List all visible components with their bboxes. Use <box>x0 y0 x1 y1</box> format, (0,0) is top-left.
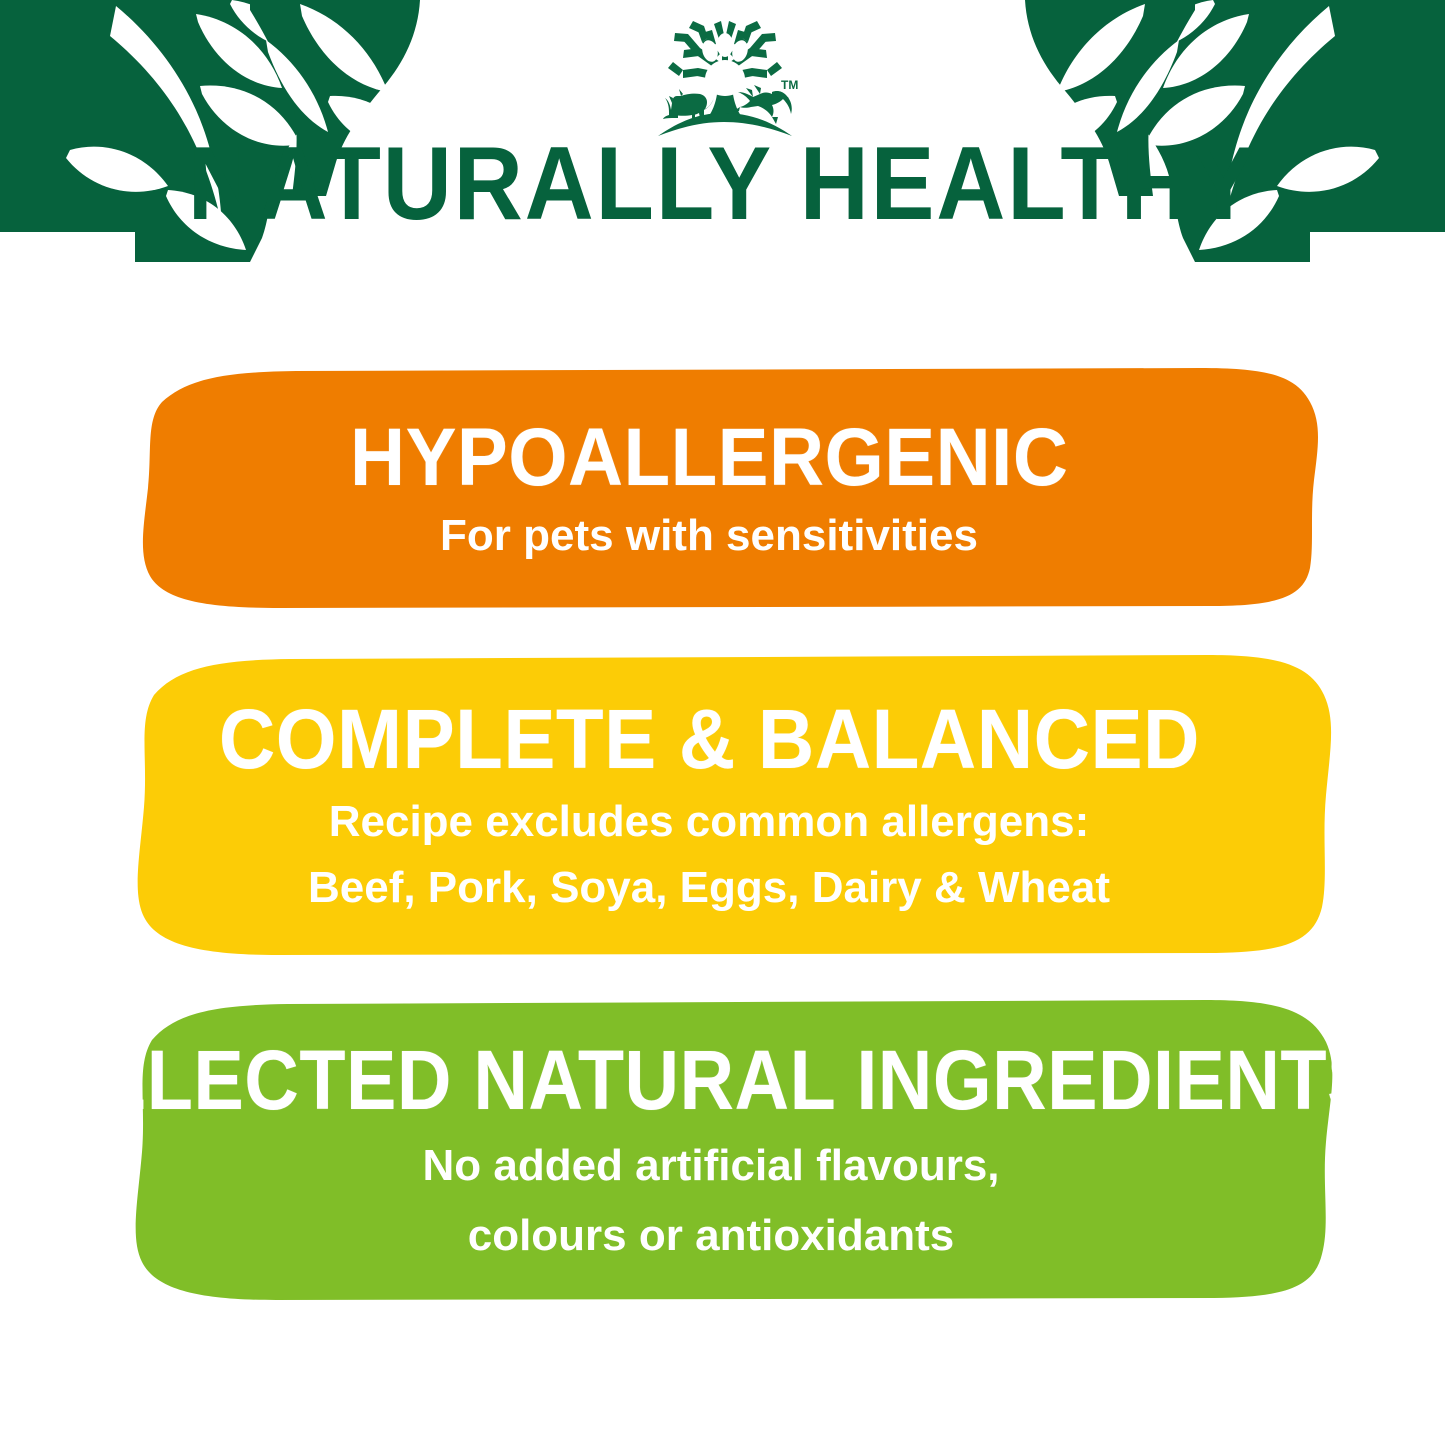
banner-subtitle-line: Beef, Pork, Soya, Eggs, Dairy & Wheat <box>308 861 1110 915</box>
banner-title: SELECTED NATURAL INGREDIENTS <box>45 1036 1378 1124</box>
banner-title: HYPOALLERGENIC <box>350 415 1068 501</box>
product-feature-panel: TM NATURALLY HEALTHY HYPOALLERGENIC For … <box>0 0 1445 1445</box>
banner-text-group: HYPOALLERGENIC For pets with sensitiviti… <box>84 368 1334 608</box>
banner-subtitle-line: Recipe excludes common allergens: <box>329 795 1090 849</box>
feature-banner-complete-balanced: COMPLETE & BALANCED Recipe excludes comm… <box>100 655 1362 955</box>
feature-banner-hypoallergenic: HYPOALLERGENIC For pets with sensitiviti… <box>100 368 1350 608</box>
banner-subtitle-line: For pets with sensitivities <box>440 511 978 561</box>
banner-subtitle-line: No added artificial flavours, <box>422 1138 999 1194</box>
tree-paw-logo-icon: TM <box>648 18 800 140</box>
trademark-symbol: TM <box>781 78 798 92</box>
feature-banner-selected-natural-ingredients: SELECTED NATURAL INGREDIENTS No added ar… <box>100 1000 1362 1300</box>
page-title: NATURALLY HEALTHY <box>58 132 1387 236</box>
banner-text-group: SELECTED NATURAL INGREDIENTS No added ar… <box>80 1000 1342 1300</box>
banner-title: COMPLETE & BALANCED <box>218 695 1199 783</box>
banner-subtitle-line: colours or antioxidants <box>468 1208 955 1264</box>
banner-text-group: COMPLETE & BALANCED Recipe excludes comm… <box>78 655 1340 955</box>
header-band: TM NATURALLY HEALTHY <box>0 0 1445 262</box>
